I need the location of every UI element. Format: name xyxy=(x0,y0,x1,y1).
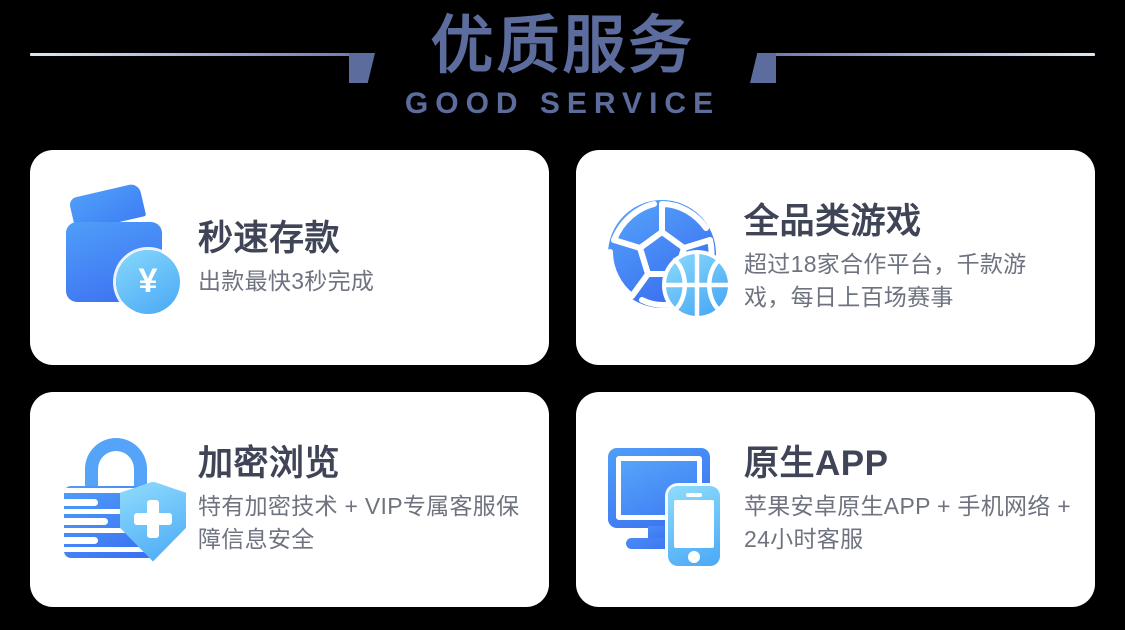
feature-card-deposit[interactable]: ¥ 秒速存款 出款最快3秒完成 xyxy=(30,150,549,365)
smartphone-icon xyxy=(668,486,720,566)
shield-plus-bar-vertical xyxy=(147,500,159,538)
padlock-slot xyxy=(64,499,98,506)
card-description: 超过18家合作平台，千款游戏，每日上百场赛事 xyxy=(744,248,1073,313)
promo-banner: 优质服务 GOOD SERVICE ¥ 秒速存款 出款最快3秒完成 xyxy=(0,0,1125,630)
padlock-slot xyxy=(64,537,98,544)
card-description: 出款最快3秒完成 xyxy=(198,265,527,298)
card-title: 秒速存款 xyxy=(198,218,527,259)
page-subtitle: GOOD SERVICE xyxy=(0,87,1125,120)
title-block: 优质服务 GOOD SERVICE xyxy=(0,8,1125,120)
card-title: 原生APP xyxy=(744,443,1073,484)
basketball-icon xyxy=(662,250,732,320)
padlock-slot xyxy=(64,518,108,525)
yen-coin-icon: ¥ xyxy=(116,250,180,314)
banner-header: 优质服务 GOOD SERVICE xyxy=(0,0,1125,142)
monitor-icon xyxy=(604,434,736,566)
feature-card-grid: ¥ 秒速存款 出款最快3秒完成 xyxy=(30,150,1095,600)
page-title: 优质服务 xyxy=(0,8,1125,85)
feature-card-native-app[interactable]: 原生APP 苹果安卓原生APP + 手机网络 + 24小时客服 xyxy=(576,392,1095,607)
feature-card-text: 加密浏览 特有加密技术 + VIP专属客服保障信息安全 xyxy=(198,443,527,556)
feature-card-games[interactable]: 全品类游戏 超过18家合作平台，千款游戏，每日上百场赛事 xyxy=(576,150,1095,365)
feature-card-text: 全品类游戏 超过18家合作平台，千款游戏，每日上百场赛事 xyxy=(744,201,1073,314)
card-description: 特有加密技术 + VIP专属客服保障信息安全 xyxy=(198,490,527,555)
feature-card-text: 原生APP 苹果安卓原生APP + 手机网络 + 24小时客服 xyxy=(744,443,1073,556)
card-title: 全品类游戏 xyxy=(744,201,1073,242)
feature-card-text: 秒速存款 出款最快3秒完成 xyxy=(198,218,527,298)
card-description: 苹果安卓原生APP + 手机网络 + 24小时客服 xyxy=(744,490,1073,555)
card-title: 加密浏览 xyxy=(198,443,527,484)
phone-speaker-shape xyxy=(686,493,702,497)
phone-screen-shape xyxy=(674,500,714,548)
wallet-icon: ¥ xyxy=(58,192,190,324)
phone-home-button xyxy=(688,551,700,563)
feature-card-encryption[interactable]: 加密浏览 特有加密技术 + VIP专属客服保障信息安全 xyxy=(30,392,549,607)
soccer-ball-icon xyxy=(604,192,736,324)
padlock-icon xyxy=(58,434,190,566)
